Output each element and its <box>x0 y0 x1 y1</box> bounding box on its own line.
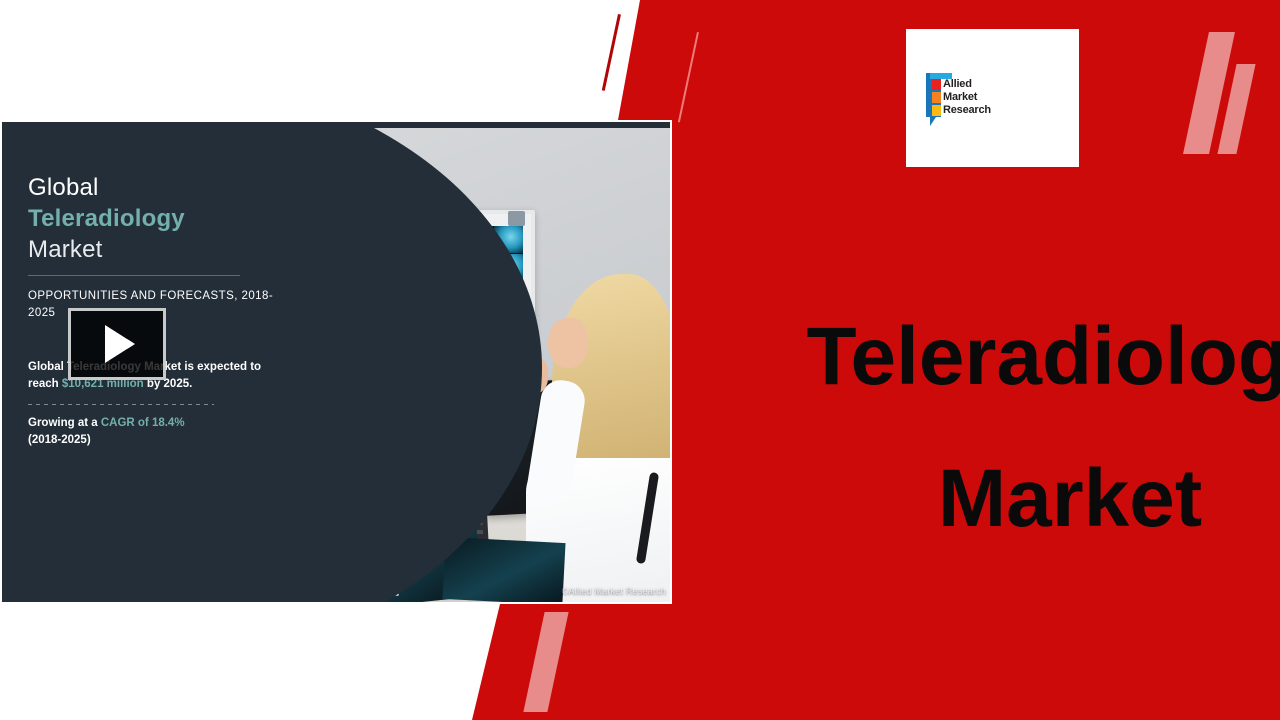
play-button[interactable] <box>68 308 166 380</box>
thumbnail-title: Global Teleradiology Market <box>28 172 278 265</box>
thumbnail-title-word-2: Teleradiology <box>28 205 185 232</box>
play-triangle-icon <box>105 325 135 363</box>
logo-line-1: Allied <box>932 79 972 90</box>
thumbnail-cagr-lead: Growing at a <box>28 417 101 429</box>
thumbnail-cagr: Growing at a CAGR of 18.4% (2018-2025) <box>28 415 278 449</box>
thumbnail-dashed-divider <box>28 404 214 405</box>
xray-film-foreground <box>442 537 565 602</box>
video-watermark: ©Allied Market Research <box>562 586 666 596</box>
video-player[interactable]: Global Teleradiology Market OPPORTUNITIE… <box>2 122 670 602</box>
slide-title-line-1: Teleradiology <box>760 286 1280 428</box>
video-thumbnail[interactable]: Global Teleradiology Market OPPORTUNITIE… <box>2 128 670 602</box>
diagonal-line-icon <box>602 14 621 91</box>
logo-line-3-label: Research <box>943 105 991 116</box>
logo-line-3: Research <box>932 105 991 116</box>
thumbnail-divider <box>28 275 240 276</box>
thumbnail-cagr-value: CAGR of 18.4% <box>101 417 185 429</box>
logo-swatch-orange <box>932 92 941 103</box>
person-female-face <box>548 318 588 368</box>
slide-canvas: Allied Market Research Teleradiology Mar… <box>0 0 1280 720</box>
slide-title-line-2: Market <box>760 428 1280 570</box>
thumbnail-title-word-3: Market <box>28 236 103 263</box>
thumbnail-cagr-period: (2018-2025) <box>28 434 91 446</box>
logo-line-1-label: Allied <box>943 79 972 90</box>
thumbnail-title-word-1: Global <box>28 174 99 201</box>
speech-bubble-tail-icon <box>930 117 936 126</box>
logo-mark: Allied Market Research <box>926 73 1000 125</box>
lightbox-clip-right <box>508 211 525 226</box>
logo-line-2: Market <box>932 92 977 103</box>
logo-line-2-label: Market <box>943 92 977 103</box>
allied-market-research-logo: Allied Market Research <box>906 29 1079 167</box>
slide-title: Teleradiology Market <box>760 286 1280 570</box>
logo-swatch-red <box>932 79 941 90</box>
logo-swatch-yellow <box>932 105 941 116</box>
